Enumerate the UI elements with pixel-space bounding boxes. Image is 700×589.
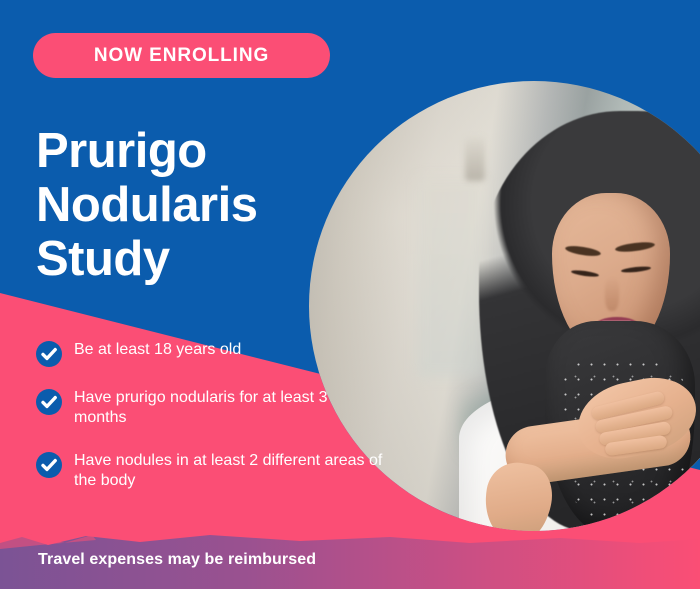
list-item: Be at least 18 years old [36,340,396,366]
eligibility-text: Have nodules in at least 2 different are… [74,451,384,492]
eligibility-list: Be at least 18 years old Have prurigo no… [36,340,396,514]
ad-canvas: NOW ENROLLING Prurigo Nodularis Study Be… [0,0,700,589]
list-item: Have nodules in at least 2 different are… [36,451,396,492]
ad-content: NOW ENROLLING Prurigo Nodularis Study Be… [0,0,700,589]
now-enrolling-badge: NOW ENROLLING [33,33,330,78]
check-circle-icon [36,452,62,478]
eligibility-text: Have prurigo nodularis for at least 3 mo… [74,388,384,429]
check-circle-icon [36,341,62,367]
headline-line-2: Nodularis [36,178,257,232]
eligibility-text: Be at least 18 years old [74,340,241,360]
check-circle-icon [36,389,62,415]
badge-label: NOW ENROLLING [94,45,269,67]
headline-line-3: Study [36,232,170,286]
page-title: Prurigo Nodularis Study [36,125,366,287]
headline-line-1: Prurigo [36,124,207,178]
footer-note: Travel expenses may be reimbursed [38,551,316,569]
list-item: Have prurigo nodularis for at least 3 mo… [36,388,396,429]
